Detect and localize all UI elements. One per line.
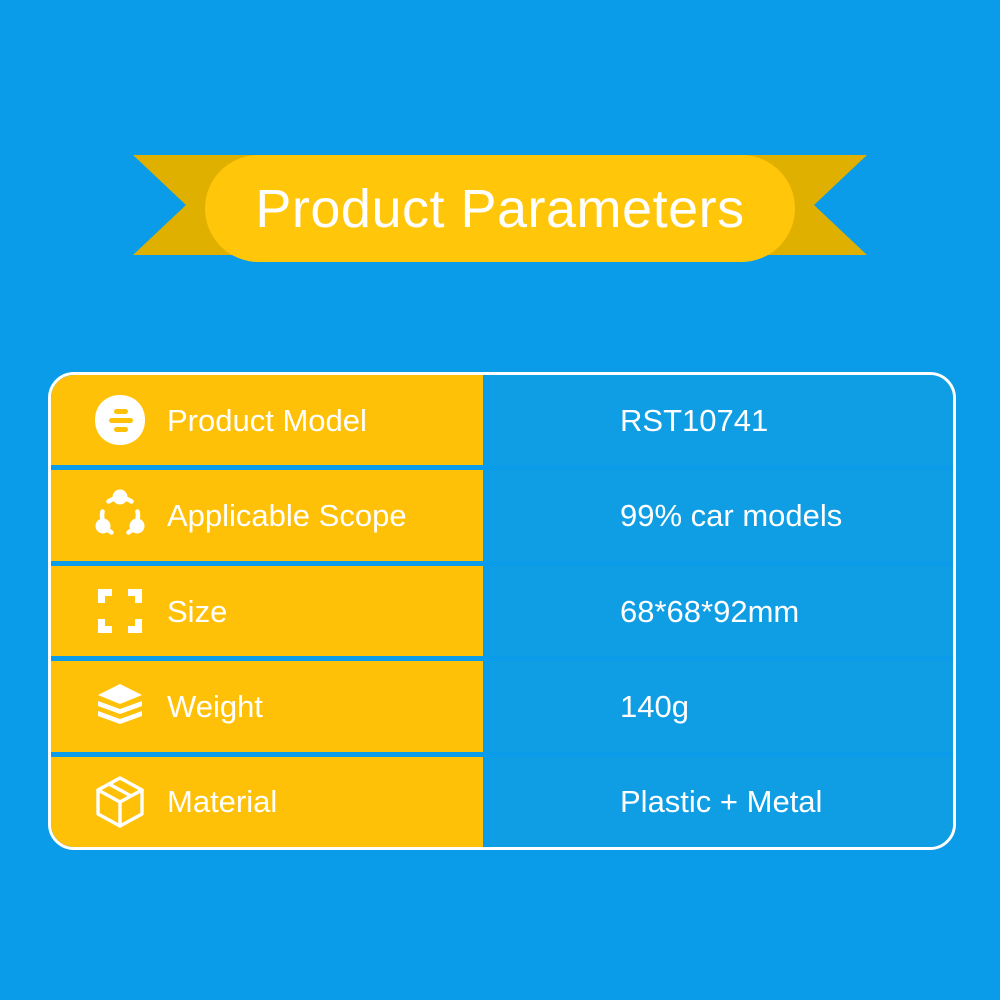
parameter-value-cell: Plastic + Metal [490,757,953,847]
product-parameters-table: Product Model RST10741 Applicable Scope [48,372,956,850]
table-row: Applicable Scope 99% car models [51,470,953,560]
parameter-label: Product Model [167,405,367,436]
share-network-icon [91,487,149,545]
page-title: Product Parameters [205,155,795,262]
column-divider [483,661,490,751]
parameter-value-cell: RST10741 [490,375,953,465]
crop-frame-icon [91,582,149,640]
table-row: Size 68*68*92mm [51,566,953,656]
table-row: Weight 140g [51,661,953,751]
parameter-label-cell: Applicable Scope [51,470,483,560]
parameter-label: Material [167,786,277,817]
table-row: Product Model RST10741 [51,375,953,465]
column-divider [483,470,490,560]
parameter-label: Weight [167,691,263,722]
parameter-label: Applicable Scope [167,500,407,531]
parameter-value-cell: 68*68*92mm [490,566,953,656]
parameter-label: Size [167,596,227,627]
column-divider [483,375,490,465]
parameter-label-cell: Material [51,757,483,847]
parameter-value: RST10741 [620,405,768,436]
layers-stack-icon [91,677,149,735]
spec-list-icon [91,391,149,449]
parameter-value-cell: 140g [490,661,953,751]
parameter-label-cell: Weight [51,661,483,751]
parameter-label-cell: Product Model [51,375,483,465]
parameter-value-cell: 99% car models [490,470,953,560]
parameter-value: 99% car models [620,500,842,531]
parameter-value: 68*68*92mm [620,596,799,627]
parameter-value: 140g [620,691,689,722]
table-row: Material Plastic + Metal [51,757,953,847]
package-box-icon [91,773,149,831]
column-divider [483,566,490,656]
column-divider [483,757,490,847]
banner: Product Parameters [0,140,1000,270]
parameter-label-cell: Size [51,566,483,656]
parameter-value: Plastic + Metal [620,786,822,817]
